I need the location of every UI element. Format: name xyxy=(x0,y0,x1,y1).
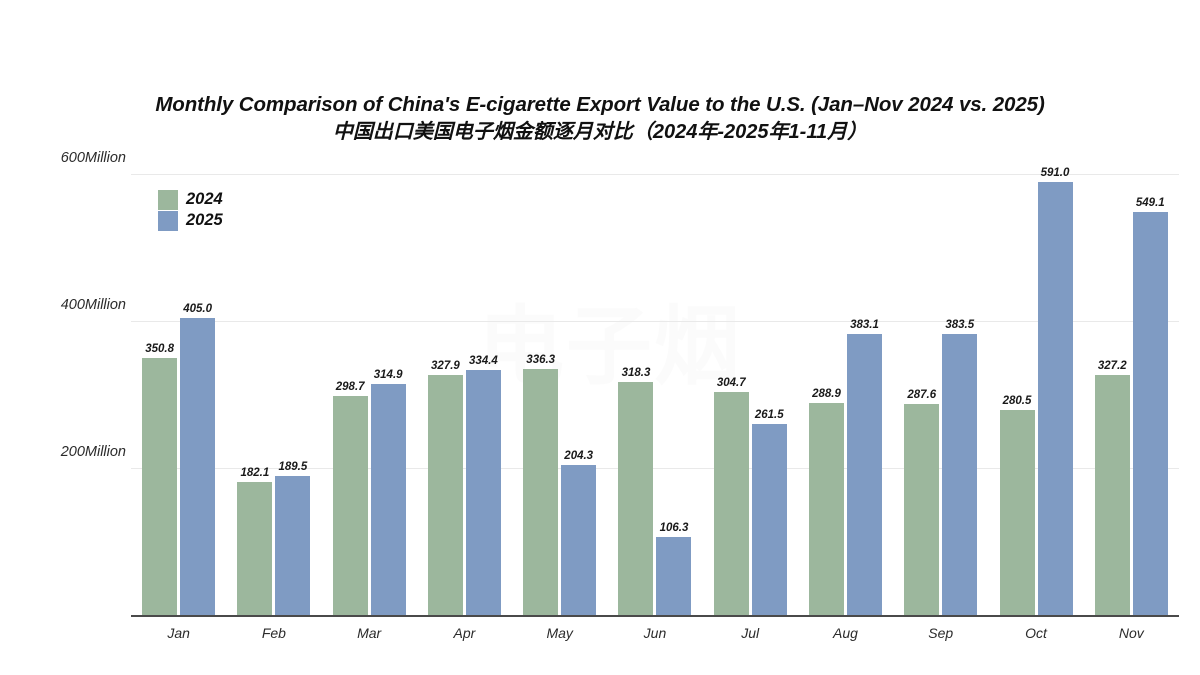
bar-value-label: 334.4 xyxy=(469,355,498,367)
bar-rect xyxy=(142,358,177,615)
x-axis-tick-label: Jun xyxy=(607,621,702,651)
y-axis-tick-label: 200Million xyxy=(0,444,126,460)
bar-group: 318.3106.3 xyxy=(607,160,702,615)
chart-legend: 2024 2025 xyxy=(158,189,223,231)
bar-group: 287.6383.5 xyxy=(893,160,988,615)
bar-value-label: 189.5 xyxy=(279,461,308,473)
bar-rect xyxy=(180,318,215,615)
x-axis-tick-label: Jul xyxy=(703,621,798,651)
bar-value-label: 182.1 xyxy=(241,467,270,479)
bar-value-label: 204.3 xyxy=(564,450,593,462)
x-axis-line xyxy=(131,615,1179,617)
bar-rect xyxy=(847,334,882,615)
legend-item-2025[interactable]: 2025 xyxy=(158,210,223,231)
x-axis-tick-label: Jan xyxy=(131,621,226,651)
plot-area: 600Million400Million200Million 350.8405.… xyxy=(131,160,1179,617)
legend-swatch-icon-2025 xyxy=(158,211,178,231)
bar-rect xyxy=(752,424,787,616)
bar-2025-Aug[interactable]: 383.1 xyxy=(847,334,882,615)
bar-group: 182.1189.5 xyxy=(226,160,321,615)
bar-groups: 350.8405.0182.1189.5298.7314.9327.9334.4… xyxy=(131,160,1179,615)
bar-value-label: 280.5 xyxy=(1003,395,1032,407)
bar-2025-Jun[interactable]: 106.3 xyxy=(656,537,691,615)
x-axis-tick-label: May xyxy=(512,621,607,651)
bar-value-label: 591.0 xyxy=(1041,167,1070,179)
bar-2025-Apr[interactable]: 334.4 xyxy=(466,370,501,615)
bar-rect xyxy=(333,396,368,615)
bar-2024-Aug[interactable]: 288.9 xyxy=(809,403,844,615)
bar-2024-Jun[interactable]: 318.3 xyxy=(618,382,653,616)
bar-value-label: 405.0 xyxy=(183,303,212,315)
bar-2024-Mar[interactable]: 298.7 xyxy=(333,396,368,615)
bar-rect xyxy=(561,465,596,615)
bar-2024-Sep[interactable]: 287.6 xyxy=(904,404,939,615)
bar-value-label: 350.8 xyxy=(145,343,174,355)
legend-label-2025: 2025 xyxy=(186,211,223,230)
bar-value-label: 314.9 xyxy=(374,369,403,381)
x-axis-tick-label: Mar xyxy=(322,621,417,651)
legend-item-2024[interactable]: 2024 xyxy=(158,189,223,210)
bar-value-label: 304.7 xyxy=(717,377,746,389)
bar-group: 327.9334.4 xyxy=(417,160,512,615)
x-axis-tick-label: Nov xyxy=(1084,621,1179,651)
bar-rect xyxy=(466,370,501,615)
bar-value-label: 298.7 xyxy=(336,381,365,393)
bar-rect xyxy=(904,404,939,615)
bar-group: 298.7314.9 xyxy=(322,160,417,615)
bar-rect xyxy=(714,392,749,616)
bar-2025-Jan[interactable]: 405.0 xyxy=(180,318,215,615)
bar-value-label: 287.6 xyxy=(907,389,936,401)
chart-subtitle: 中国出口美国电子烟金额逐月对比（2024年-2025年1-11月） xyxy=(0,118,1200,147)
bar-rect xyxy=(237,482,272,616)
bar-2024-Jul[interactable]: 304.7 xyxy=(714,392,749,616)
legend-swatch-icon-2024 xyxy=(158,190,178,210)
bar-2024-Apr[interactable]: 327.9 xyxy=(428,375,463,616)
bar-value-label: 327.9 xyxy=(431,360,460,372)
page-title: Monthly Comparison of China's E-cigarett… xyxy=(0,92,1200,118)
bar-value-label: 549.1 xyxy=(1136,197,1165,209)
bar-2024-May[interactable]: 336.3 xyxy=(523,369,558,616)
bar-rect xyxy=(1038,182,1073,616)
bar-value-label: 318.3 xyxy=(622,367,651,379)
chart-container: Monthly Comparison of China's E-cigarett… xyxy=(0,0,1200,675)
bar-rect xyxy=(1095,375,1130,615)
bar-value-label: 288.9 xyxy=(812,388,841,400)
bar-rect xyxy=(1133,212,1168,615)
bar-rect xyxy=(428,375,463,616)
bar-group: 288.9383.1 xyxy=(798,160,893,615)
bar-group: 304.7261.5 xyxy=(703,160,798,615)
bar-2024-Feb[interactable]: 182.1 xyxy=(237,482,272,616)
bar-2025-Oct[interactable]: 591.0 xyxy=(1038,182,1073,616)
bar-group: 327.2549.1 xyxy=(1084,160,1179,615)
bar-value-label: 261.5 xyxy=(755,409,784,421)
bar-group: 280.5591.0 xyxy=(988,160,1083,615)
y-axis-tick-label: 600Million xyxy=(0,150,126,166)
x-axis-ticks: JanFebMarAprMayJunJulAugSepOctNov xyxy=(131,621,1179,651)
x-axis-tick-label: Sep xyxy=(893,621,988,651)
bar-2025-Mar[interactable]: 314.9 xyxy=(371,384,406,615)
bar-rect xyxy=(809,403,844,615)
y-axis-tick-label: 400Million xyxy=(0,297,126,313)
bar-group: 336.3204.3 xyxy=(512,160,607,615)
x-axis-tick-label: Aug xyxy=(798,621,893,651)
x-axis-tick-label: Apr xyxy=(417,621,512,651)
bar-rect xyxy=(1000,410,1035,616)
bar-rect xyxy=(618,382,653,616)
bar-value-label: 106.3 xyxy=(660,522,689,534)
bar-value-label: 383.5 xyxy=(945,319,974,331)
bar-2025-May[interactable]: 204.3 xyxy=(561,465,596,615)
legend-label-2024: 2024 xyxy=(186,190,223,209)
bar-2025-Jul[interactable]: 261.5 xyxy=(752,424,787,616)
x-axis-tick-label: Feb xyxy=(226,621,321,651)
bar-value-label: 336.3 xyxy=(526,354,555,366)
x-axis-tick-label: Oct xyxy=(988,621,1083,651)
bar-rect xyxy=(275,476,310,615)
bar-2025-Sep[interactable]: 383.5 xyxy=(942,334,977,615)
bar-rect xyxy=(371,384,406,615)
bar-value-label: 383.1 xyxy=(850,319,879,331)
bar-2024-Nov[interactable]: 327.2 xyxy=(1095,375,1130,615)
bar-2024-Jan[interactable]: 350.8 xyxy=(142,358,177,615)
bar-rect xyxy=(523,369,558,616)
title-block: Monthly Comparison of China's E-cigarett… xyxy=(0,92,1200,147)
bar-value-label: 327.2 xyxy=(1098,360,1127,372)
bar-rect xyxy=(942,334,977,615)
bar-2025-Nov[interactable]: 549.1 xyxy=(1133,212,1168,615)
bar-2025-Feb[interactable]: 189.5 xyxy=(275,476,310,615)
bar-2024-Oct[interactable]: 280.5 xyxy=(1000,410,1035,616)
bar-rect xyxy=(656,537,691,615)
